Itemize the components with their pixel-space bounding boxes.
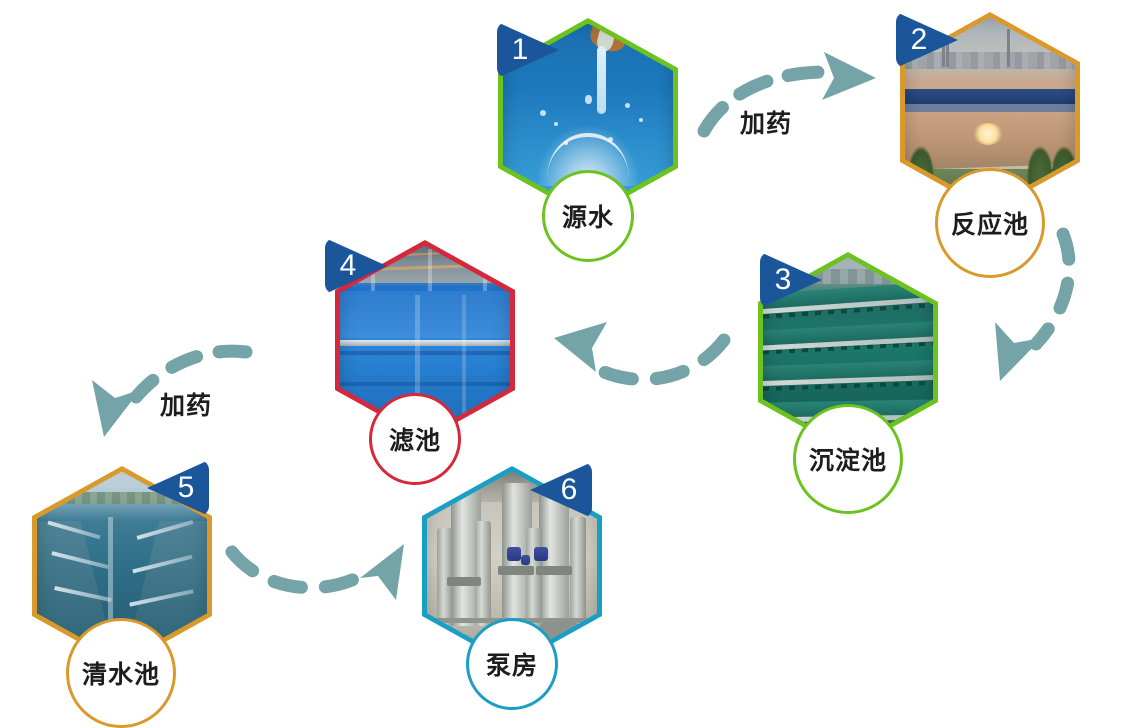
arrow-label-dosing-1: 加药	[740, 104, 792, 140]
step-node-3[interactable]: 3 沉淀池	[748, 252, 948, 482]
step-6-label: 泵房	[486, 646, 538, 682]
step-5-label-circle[interactable]: 清水池	[66, 618, 176, 728]
step-node-4[interactable]: 4 滤池	[325, 240, 525, 470]
process-flow-diagram: 加药 加药	[0, 0, 1130, 714]
step-node-1[interactable]: 1 源水	[488, 18, 688, 248]
arrow-3-to-4	[554, 322, 724, 379]
step-1-label: 源水	[562, 198, 614, 234]
arrow-label-dosing-2: 加药	[160, 386, 212, 422]
step-node-2[interactable]: 2 反应池	[890, 12, 1090, 242]
step-3-label: 沉淀池	[809, 441, 887, 477]
step-6-label-circle[interactable]: 泵房	[466, 618, 558, 710]
step-2-label-circle[interactable]: 反应池	[935, 168, 1045, 278]
arrow-5-to-6	[232, 544, 404, 600]
step-1-label-circle[interactable]: 源水	[542, 170, 634, 262]
step-node-6[interactable]: 6 泵房	[412, 466, 612, 696]
step-4-label: 滤池	[389, 421, 441, 457]
step-2-label: 反应池	[951, 205, 1029, 241]
step-3-label-circle[interactable]: 沉淀池	[793, 404, 903, 514]
step-5-label: 清水池	[82, 655, 160, 691]
step-4-label-circle[interactable]: 滤池	[369, 393, 461, 485]
step-node-5[interactable]: 5 清水池	[22, 466, 222, 696]
